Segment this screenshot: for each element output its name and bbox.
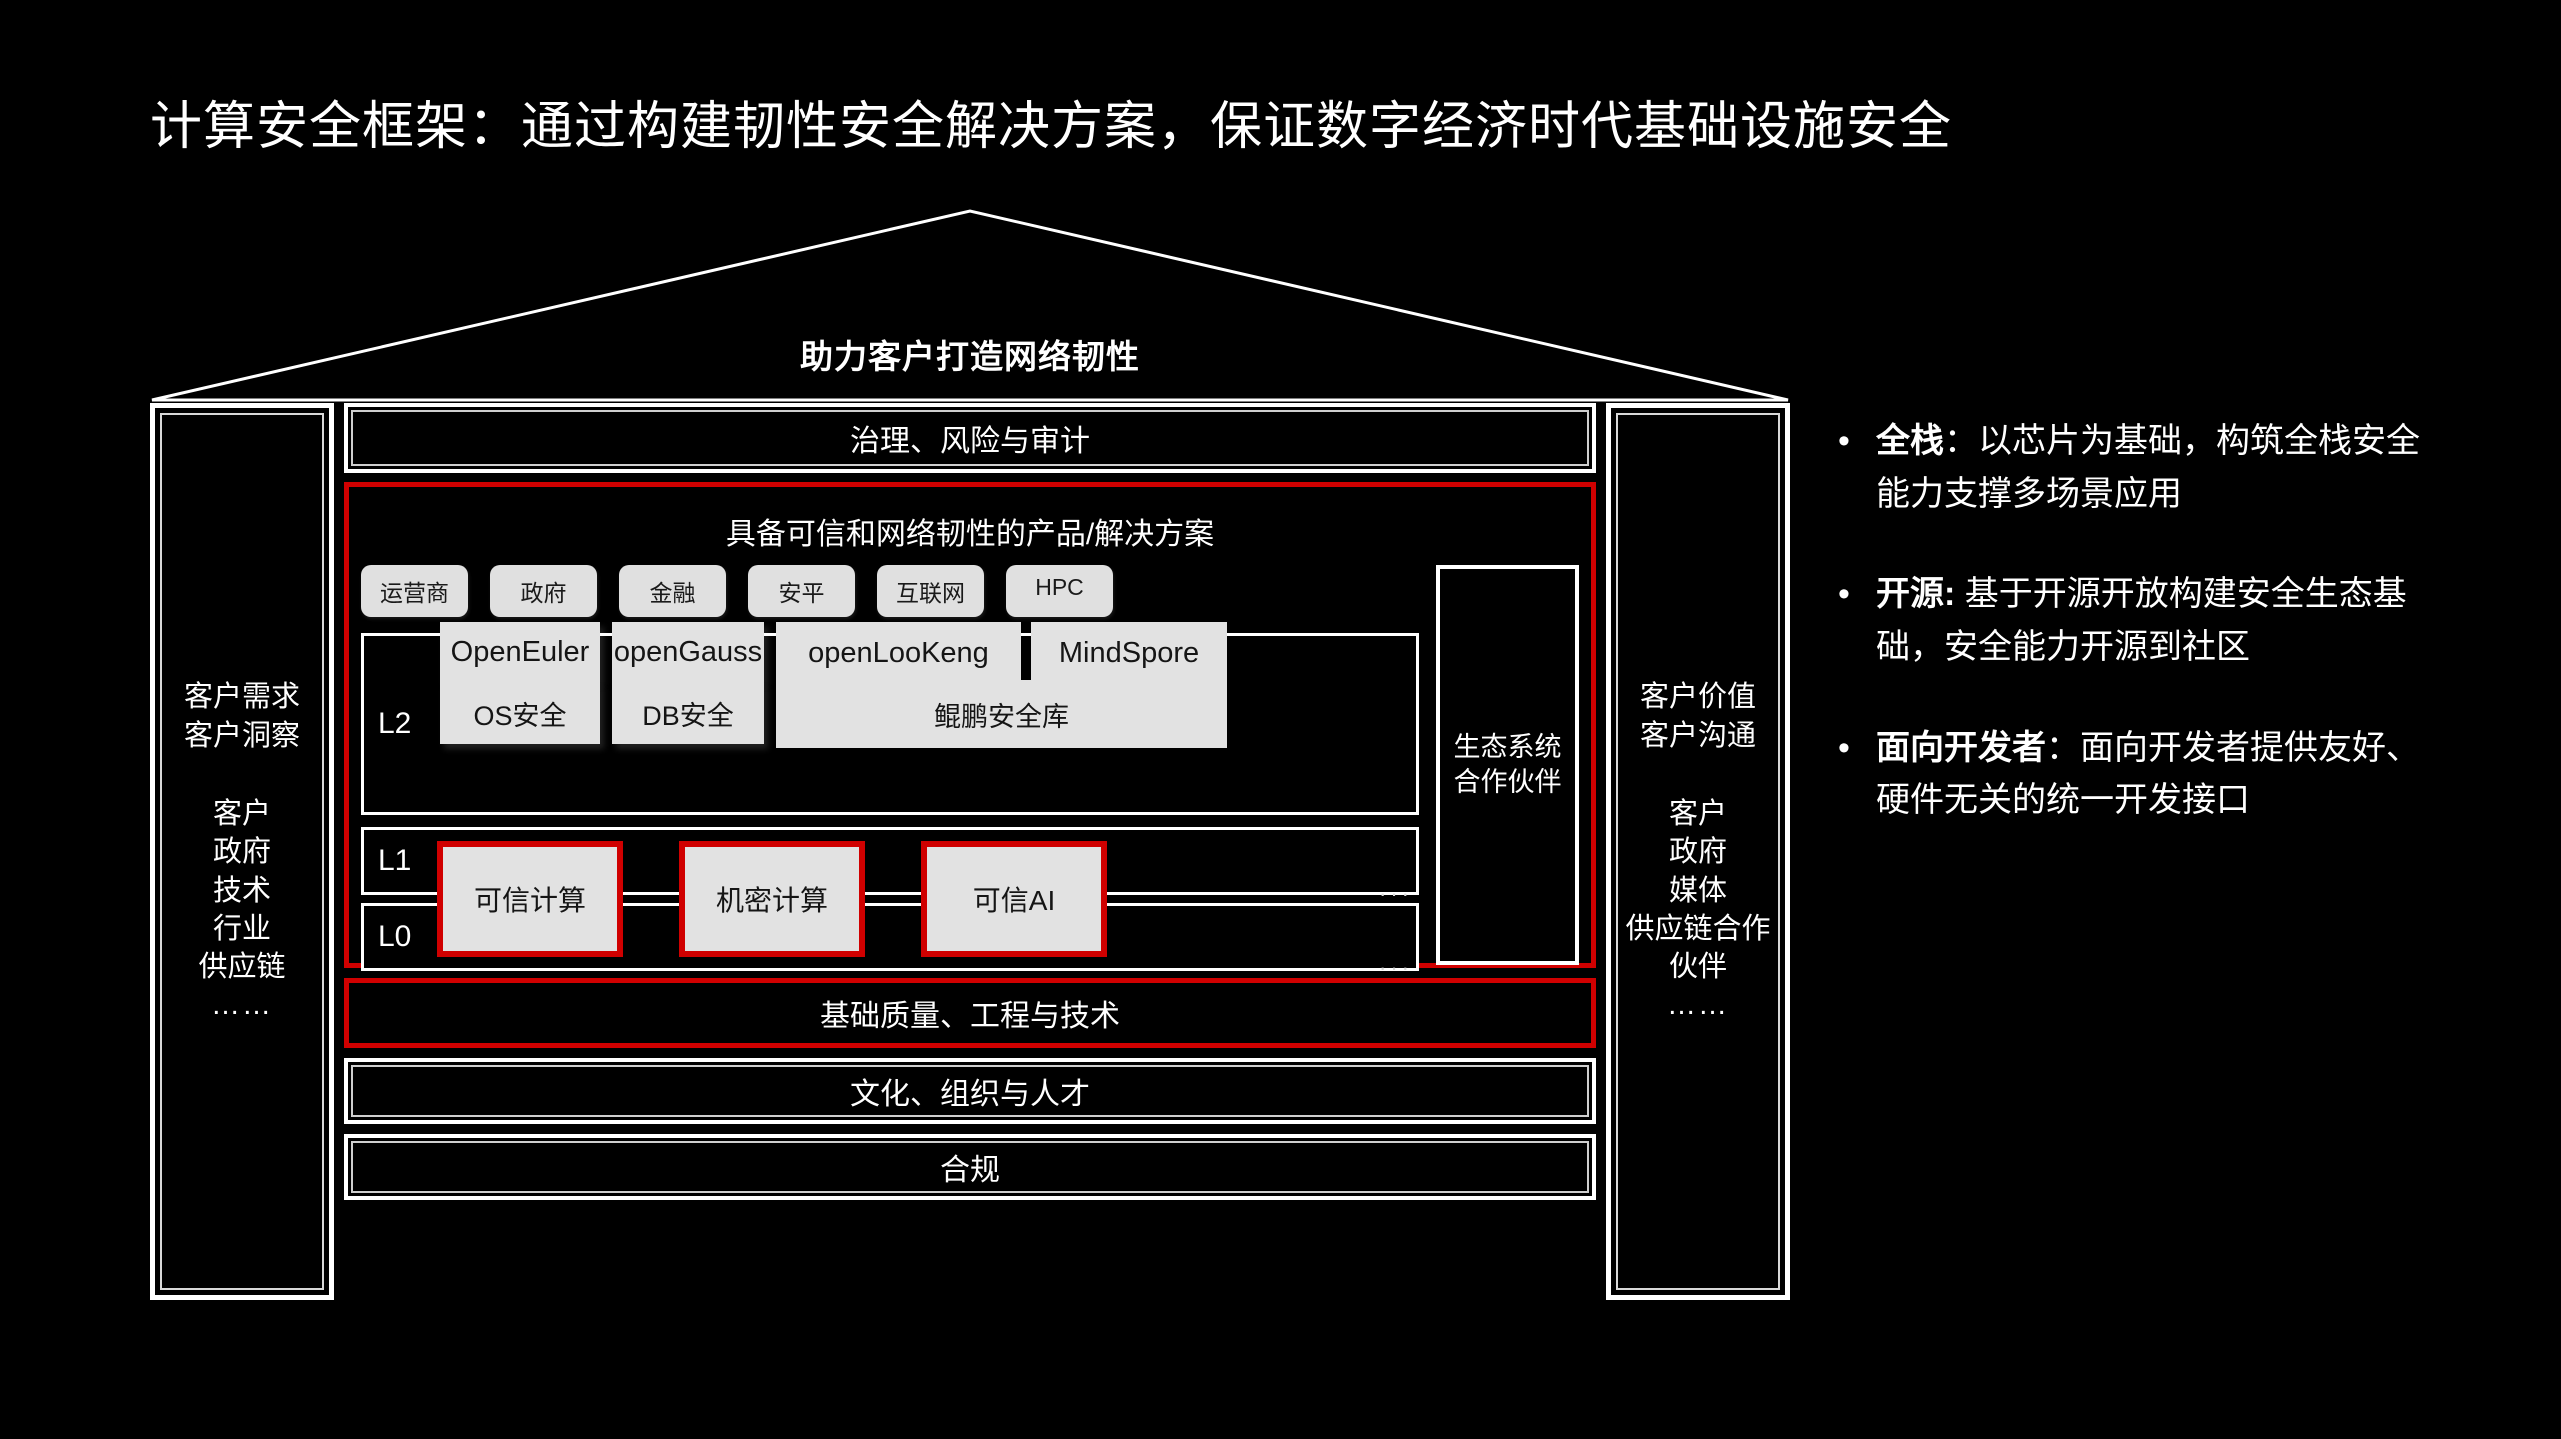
house-diagram: 客户需求 客户洞察 客户 政府 技术 行业 供应链 …… 客户价值 客户沟通 客… bbox=[150, 403, 1790, 1300]
compliance-bar: 合规 bbox=[344, 1134, 1596, 1200]
chip-hpc[interactable]: HPC bbox=[1006, 565, 1113, 617]
list-item: 技术 bbox=[198, 872, 285, 910]
left-pillar-heading: 客户需求 客户洞察 bbox=[184, 678, 300, 755]
bullet-text: 全栈：以芯片为基础，构筑全栈安全能力支撑多场景应用 bbox=[1876, 415, 2438, 520]
bullet-separator: ： bbox=[1944, 422, 1978, 460]
bullet-separator: ： bbox=[2046, 729, 2080, 767]
bullet-item-developer-oriented: • 面向开发者：面向开发者提供友好、硬件无关的统一开发接口 bbox=[1838, 722, 2438, 827]
industry-chip-row: 运营商 政府 金融 安平 互联网 HPC bbox=[361, 565, 1113, 617]
products-title: 具备可信和网络韧性的产品/解决方案 bbox=[361, 509, 1579, 553]
chip-operator[interactable]: 运营商 bbox=[361, 565, 468, 617]
list-item: 媒体 bbox=[1625, 872, 1770, 910]
bullet-strong: 全栈 bbox=[1876, 422, 1944, 460]
center-stack: 治理、风险与审计 具备可信和网络韧性的产品/解决方案 运营商 政府 金融 安平 … bbox=[344, 403, 1596, 1300]
bullet-marker: • bbox=[1838, 568, 1876, 673]
tile-mindspore[interactable]: MindSpore bbox=[1031, 622, 1227, 684]
right-pillar-ellipsis: …… bbox=[1625, 986, 1770, 1024]
bullet-strong: 面向开发者 bbox=[1876, 729, 2046, 767]
right-pillar-heading-line1: 客户价值 bbox=[1640, 678, 1756, 716]
list-item: 伙伴 bbox=[1625, 948, 1770, 986]
chip-public-safety[interactable]: 安平 bbox=[748, 565, 855, 617]
bullet-item-full-stack: • 全栈：以芯片为基础，构筑全栈安全能力支撑多场景应用 bbox=[1838, 415, 2438, 520]
right-pillar-heading: 客户价值 客户沟通 bbox=[1640, 678, 1756, 755]
bullet-marker: • bbox=[1838, 722, 1876, 827]
page-title: 计算安全框架：通过构建韧性安全解决方案，保证数字经济时代基础设施安全 bbox=[150, 96, 1952, 158]
bullet-item-open-source: • 开源: 基于开源开放构建安全生态基础，安全能力开源到社区 bbox=[1838, 568, 2438, 673]
left-pillar-list: 客户 政府 技术 行业 供应链 …… bbox=[198, 795, 285, 1025]
list-item: 客户 bbox=[1625, 795, 1770, 833]
bullet-text: 面向开发者：面向开发者提供友好、硬件无关的统一开发接口 bbox=[1876, 722, 2438, 827]
layer-l2: L2 OpenEuler OS安全 openGauss DB安全 openLoo… bbox=[361, 633, 1419, 815]
right-pillar-list: 客户 政府 媒体 供应链合作 伙伴 …… bbox=[1625, 795, 1770, 1025]
chip-finance[interactable]: 金融 bbox=[619, 565, 726, 617]
governance-bar: 治理、风险与审计 bbox=[344, 403, 1596, 473]
bullet-marker: • bbox=[1838, 415, 1876, 520]
roof-label: 助力客户打造网络韧性 bbox=[150, 330, 1790, 378]
tile-opengauss[interactable]: openGauss bbox=[612, 622, 764, 682]
list-item: 供应链 bbox=[198, 948, 285, 986]
list-item: 客户 bbox=[198, 795, 285, 833]
bullet-list: • 全栈：以芯片为基础，构筑全栈安全能力支撑多场景应用 • 开源: 基于开源开放… bbox=[1838, 415, 2438, 875]
capability-ellipsis-l1: ··· bbox=[1379, 881, 1413, 907]
left-pillar: 客户需求 客户洞察 客户 政府 技术 行业 供应链 …… bbox=[150, 403, 334, 1300]
ecosystem-line2: 合作伙伴 bbox=[1454, 765, 1562, 800]
right-pillar-heading-line2: 客户沟通 bbox=[1640, 717, 1756, 755]
bullet-strong: 开源: bbox=[1876, 575, 1955, 613]
tile-os-security[interactable]: OS安全 bbox=[440, 682, 600, 744]
capability-trusted-ai[interactable]: 可信AI bbox=[921, 841, 1107, 957]
products-inner: 运营商 政府 金融 安平 互联网 HPC 生态系统 合作伙伴 bbox=[361, 565, 1579, 951]
list-item: 政府 bbox=[1625, 833, 1770, 871]
left-pillar-heading-line2: 客户洞察 bbox=[184, 717, 300, 755]
capability-confidential-computing[interactable]: 机密计算 bbox=[679, 841, 865, 957]
slide-root: 计算安全框架：通过构建韧性安全解决方案，保证数字经济时代基础设施安全 助力客户打… bbox=[0, 0, 2561, 1439]
right-pillar: 客户价值 客户沟通 客户 政府 媒体 供应链合作 伙伴 …… bbox=[1606, 403, 1790, 1300]
chip-internet[interactable]: 互联网 bbox=[877, 565, 984, 617]
ecosystem-partner-panel: 生态系统 合作伙伴 bbox=[1436, 565, 1579, 965]
capability-trusted-computing[interactable]: 可信计算 bbox=[437, 841, 623, 957]
bullet-text: 开源: 基于开源开放构建安全生态基础，安全能力开源到社区 bbox=[1876, 568, 2438, 673]
capability-row: 可信计算 机密计算 可信AI ··· ··· bbox=[361, 827, 1419, 971]
tile-openlookeng[interactable]: openLooKeng bbox=[776, 622, 1021, 684]
left-pillar-heading-line1: 客户需求 bbox=[184, 678, 300, 716]
left-pillar-ellipsis: …… bbox=[198, 986, 285, 1024]
ecosystem-line1: 生态系统 bbox=[1454, 730, 1562, 765]
list-item: 行业 bbox=[198, 910, 285, 948]
layer-l2-label: L2 bbox=[378, 707, 411, 741]
list-item: 供应链合作 bbox=[1625, 910, 1770, 948]
products-panel: 具备可信和网络韧性的产品/解决方案 运营商 政府 金融 安平 互联网 HPC bbox=[344, 482, 1596, 968]
tile-db-security[interactable]: DB安全 bbox=[612, 682, 764, 744]
bullet-separator bbox=[1955, 575, 1964, 613]
tile-kunpeng-security-lib[interactable]: 鲲鹏安全库 bbox=[776, 680, 1227, 748]
foundation-bar: 基础质量、工程与技术 bbox=[344, 978, 1596, 1048]
chip-government[interactable]: 政府 bbox=[490, 565, 597, 617]
culture-bar: 文化、组织与人才 bbox=[344, 1058, 1596, 1124]
list-item: 政府 bbox=[198, 833, 285, 871]
tile-openeuler[interactable]: OpenEuler bbox=[440, 622, 600, 682]
